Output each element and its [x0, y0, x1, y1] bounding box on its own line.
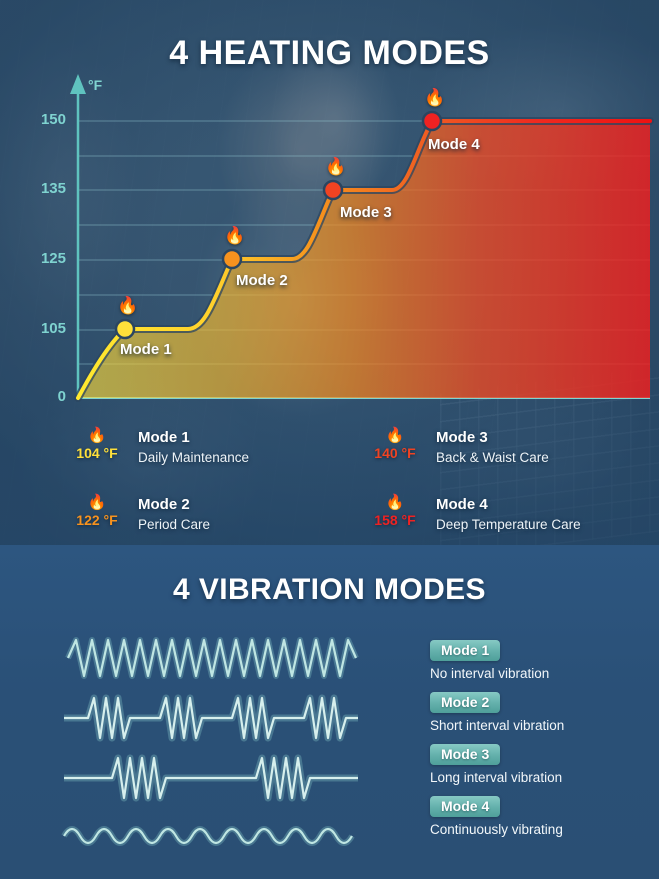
vibration-title: 4 VIBRATION MODES — [0, 573, 659, 607]
legend-name-mode-2: Mode 2 — [138, 495, 210, 515]
chart-point-mode-2[interactable] — [223, 250, 241, 268]
chart-point-mode-4[interactable] — [423, 112, 441, 130]
vibration-desc-3: Long interval vibration — [430, 770, 645, 785]
chart-label-mode-2: Mode 2 — [236, 272, 288, 289]
waveform-mode-2 — [60, 690, 370, 746]
legend-left-mode-1: 🔥 104 °F — [60, 428, 134, 462]
waveform-mode-4 — [60, 808, 370, 864]
vibration-mode-list: Mode 1 No interval vibration Mode 2 Shor… — [430, 640, 645, 848]
heating-section: 4 HEATING MODES — [0, 0, 659, 545]
vibration-item-4: Mode 4 Continuously vibrating — [430, 796, 645, 837]
waveform-mode-2-svg — [60, 690, 360, 746]
legend-left-mode-2: 🔥 122 °F — [60, 495, 134, 529]
axis-unit-label: °F — [88, 77, 102, 93]
legend-name-mode-3: Mode 3 — [436, 428, 549, 448]
legend-desc-mode-3: Back & Waist Care — [436, 448, 549, 467]
vibration-desc-1: No interval vibration — [430, 666, 645, 681]
y-axis-arrow — [70, 74, 86, 94]
legend-name-mode-4: Mode 4 — [436, 495, 581, 515]
flame-icon-mode-1: 🔥 — [117, 297, 138, 314]
legend-desc-mode-2: Period Care — [138, 515, 210, 534]
legend-right-mode-4: Mode 4 Deep Temperature Care — [436, 495, 581, 534]
legend-temp-mode-2: 122 °F — [60, 511, 134, 529]
legend-desc-mode-1: Daily Maintenance — [138, 448, 249, 467]
flame-icon-legend-2: 🔥 — [60, 495, 134, 511]
waveform-mode-1-svg — [60, 630, 360, 686]
flame-icon-legend-1: 🔥 — [60, 428, 134, 444]
heating-legend: 🔥 104 °F Mode 1 Daily Maintenance 🔥 122 … — [0, 420, 659, 545]
vibration-desc-4: Continuously vibrating — [430, 822, 645, 837]
flame-icon-legend-3: 🔥 — [358, 428, 432, 444]
flame-icon-mode-3: 🔥 — [325, 158, 346, 175]
vibration-item-2: Mode 2 Short interval vibration — [430, 692, 645, 733]
waveform-mode-3-svg — [60, 750, 360, 806]
flame-icon-mode-2: 🔥 — [224, 227, 245, 244]
legend-item-mode-1: 🔥 104 °F Mode 1 Daily Maintenance — [60, 428, 249, 467]
legend-item-mode-3: 🔥 140 °F Mode 3 Back & Waist Care — [358, 428, 549, 467]
flame-icon-legend-4: 🔥 — [358, 495, 432, 511]
chart-label-mode-1: Mode 1 — [120, 341, 172, 358]
vibration-section: 4 VIBRATION MODES — [0, 545, 659, 879]
legend-left-mode-3: 🔥 140 °F — [358, 428, 432, 462]
legend-right-mode-2: Mode 2 Period Care — [138, 495, 210, 534]
y-tick-105: 105 — [20, 320, 66, 337]
vibration-badge-2[interactable]: Mode 2 — [430, 692, 500, 713]
chart-point-mode-1[interactable] — [116, 320, 134, 338]
y-tick-150: 150 — [20, 111, 66, 128]
flame-icon-mode-4: 🔥 — [424, 89, 445, 106]
legend-item-mode-2: 🔥 122 °F Mode 2 Period Care — [60, 495, 210, 534]
legend-left-mode-4: 🔥 158 °F — [358, 495, 432, 529]
legend-item-mode-4: 🔥 158 °F Mode 4 Deep Temperature Care — [358, 495, 581, 534]
legend-temp-mode-3: 140 °F — [358, 444, 432, 462]
vibration-badge-4[interactable]: Mode 4 — [430, 796, 500, 817]
vibration-waveforms — [60, 630, 370, 865]
waveform-mode-3 — [60, 750, 370, 806]
legend-right-mode-3: Mode 3 Back & Waist Care — [436, 428, 549, 467]
legend-temp-mode-4: 158 °F — [358, 511, 432, 529]
legend-name-mode-1: Mode 1 — [138, 428, 249, 448]
legend-desc-mode-4: Deep Temperature Care — [436, 515, 581, 534]
vibration-item-3: Mode 3 Long interval vibration — [430, 744, 645, 785]
vibration-badge-1[interactable]: Mode 1 — [430, 640, 500, 661]
vibration-badge-3[interactable]: Mode 3 — [430, 744, 500, 765]
legend-right-mode-1: Mode 1 Daily Maintenance — [138, 428, 249, 467]
y-tick-0: 0 — [20, 388, 66, 405]
vibration-desc-2: Short interval vibration — [430, 718, 645, 733]
chart-label-mode-4: Mode 4 — [428, 136, 480, 153]
y-tick-135: 135 — [20, 180, 66, 197]
waveform-mode-4-svg — [60, 808, 360, 864]
waveform-mode-1 — [60, 630, 370, 686]
product-infographic: 4 HEATING MODES — [0, 0, 659, 879]
y-tick-125: 125 — [20, 250, 66, 267]
legend-temp-mode-1: 104 °F — [60, 444, 134, 462]
chart-point-mode-3[interactable] — [324, 181, 342, 199]
chart-label-mode-3: Mode 3 — [340, 204, 392, 221]
vibration-item-1: Mode 1 No interval vibration — [430, 640, 645, 681]
